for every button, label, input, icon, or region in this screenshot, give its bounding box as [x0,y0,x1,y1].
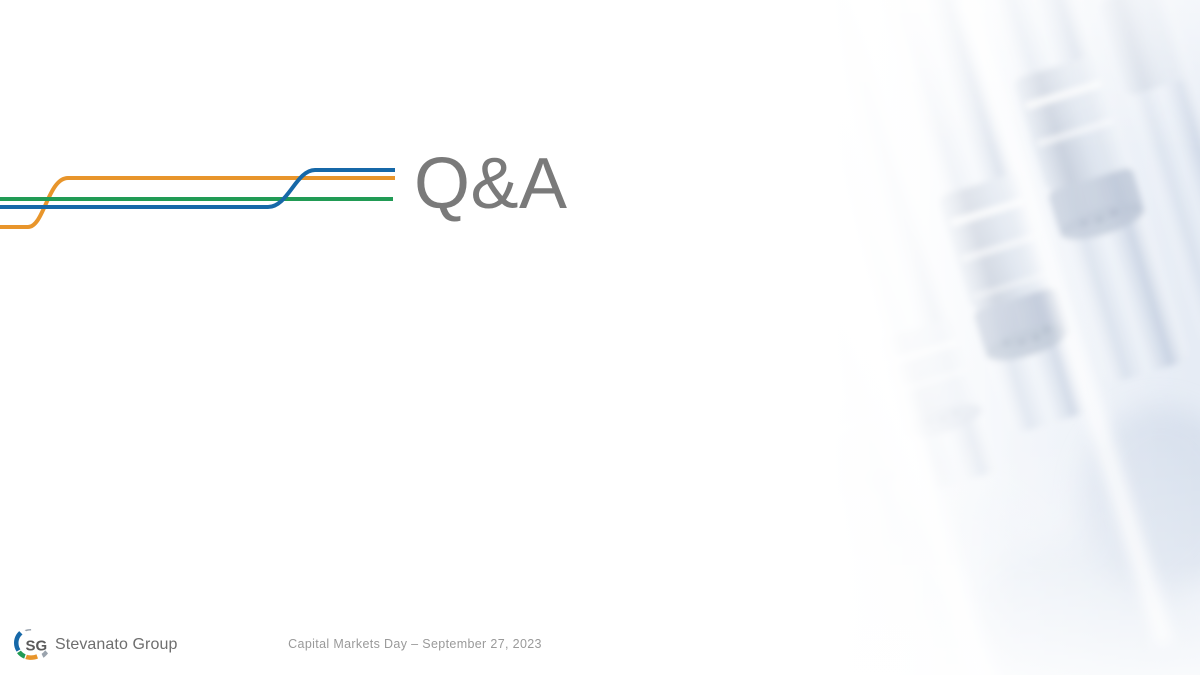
page-title: Q&A [414,148,568,220]
glass-vials-photo [830,0,1200,675]
flow-lines-decoration [0,140,420,250]
flow-line-blue [0,170,395,207]
slide-root: Q&A SG Stevanato Group Capital Markets D… [0,0,1200,675]
flow-line-orange [0,178,395,227]
footer-event-label: Capital Markets Day – September 27, 2023 [0,637,830,651]
